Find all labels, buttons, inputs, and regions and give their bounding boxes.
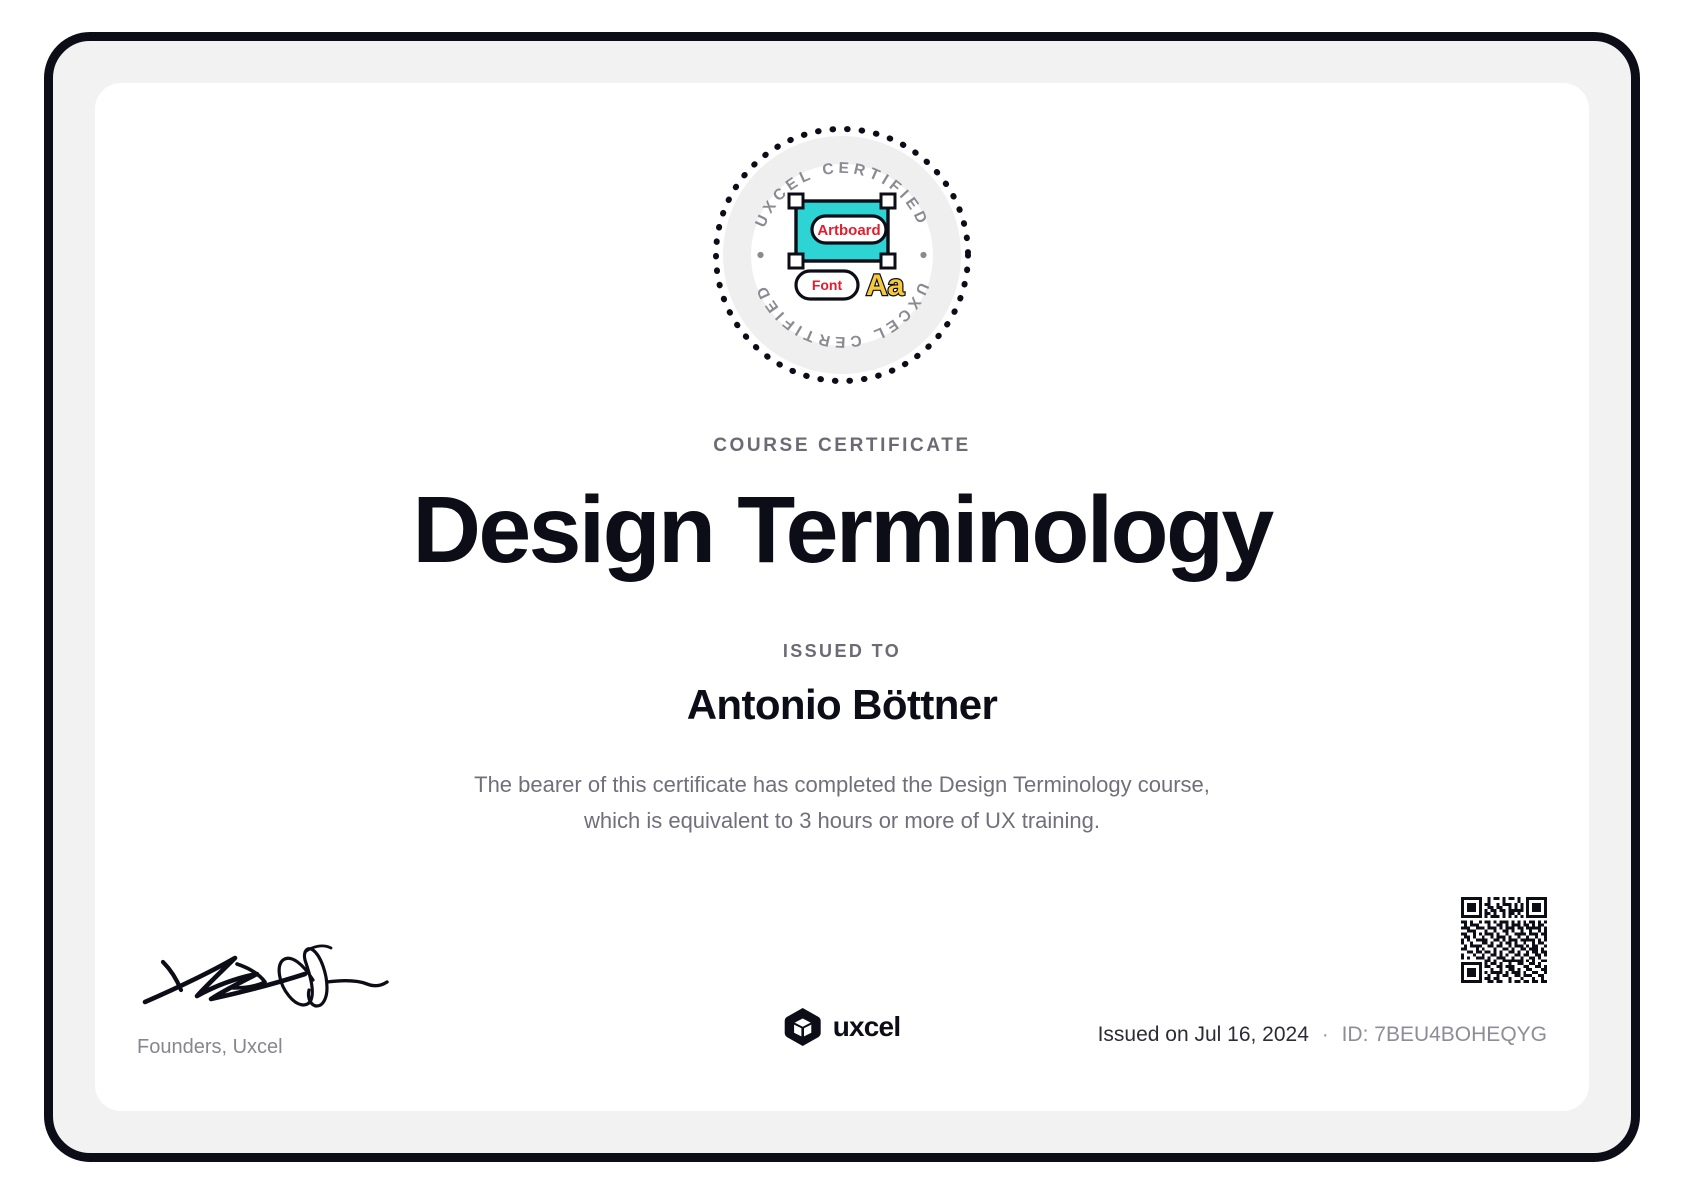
issued-to-label: ISSUED TO [95,641,1589,662]
signature-block: Founders, Uxcel [137,940,467,1059]
issue-metadata: Issued on Jul 16, 2024 · ID: 7BEU4BOHEQY… [1098,1023,1547,1047]
certificate-frame: UXCEL CERTIFIED UXCEL CERTIFIED Artboard [44,32,1640,1162]
course-title: Design Terminology [95,481,1589,581]
seal-font-label: Font [812,277,843,293]
verification-qr-code[interactable] [1461,897,1547,983]
meta-separator: · [1315,1023,1336,1046]
issued-on-date: Issued on Jul 16, 2024 [1098,1023,1309,1046]
uxcel-hexagon-icon [784,1007,822,1047]
signature-caption: Founders, Uxcel [137,1036,467,1059]
founders-signature-icon [137,940,427,1022]
certification-seal: UXCEL CERTIFIED UXCEL CERTIFIED Artboard [708,121,976,389]
certificate-id: ID: 7BEU4BOHEQYG [1342,1023,1547,1046]
certificate-type-label: COURSE CERTIFICATE [95,435,1589,457]
recipient-name: Antonio Böttner [95,681,1589,729]
certificate-description: The bearer of this certificate has compl… [392,767,1292,838]
seal-type-sample: Aa [866,269,905,302]
certificate-card: UXCEL CERTIFIED UXCEL CERTIFIED Artboard [95,83,1589,1111]
description-line-2: which is equivalent to 3 hours or more o… [392,803,1292,839]
uxcel-wordmark: uxcel [833,1011,901,1043]
seal-font-emblem: Font Aa [796,269,905,302]
description-line-1: The bearer of this certificate has compl… [392,767,1292,803]
uxcel-brand-logo: uxcel [784,1007,901,1047]
seal-artboard-label: Artboard [817,222,880,239]
seal-artboard-emblem: Artboard [789,194,895,268]
